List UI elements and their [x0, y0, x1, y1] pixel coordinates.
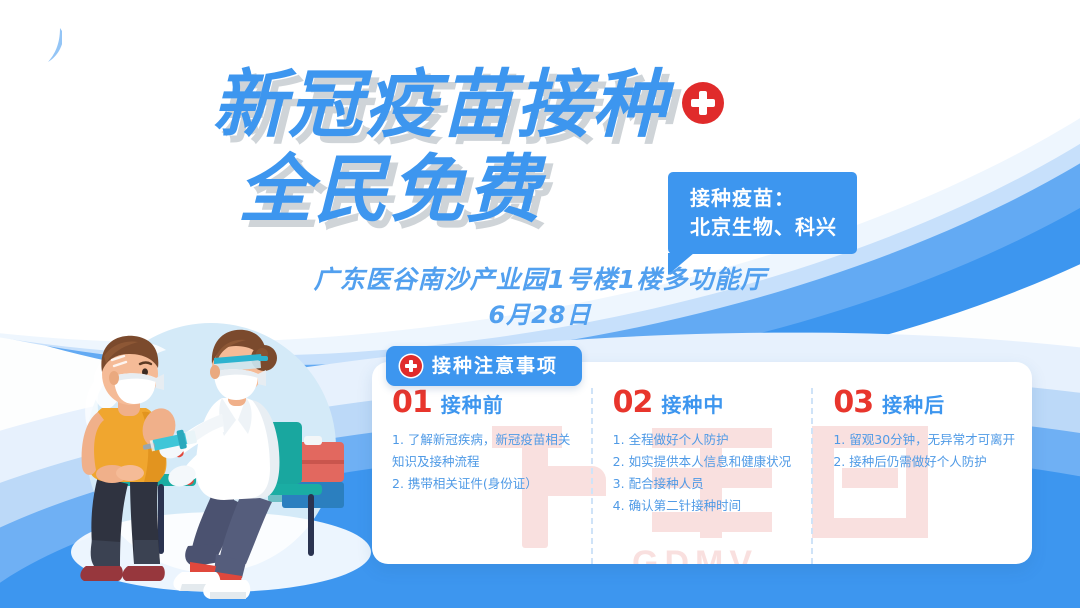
notice-item: 2. 接种后仍需做好个人防护: [833, 451, 1016, 473]
notice-header-pill: 接种注意事项: [386, 346, 582, 386]
vaccination-poster: 广东医谷 —GDMV— 新冠疫苗接种 全民免费 接种疫苗： 北京生物、科兴 广东…: [0, 0, 1080, 608]
notice-item: 2. 携带相关证件(身份证）: [392, 473, 575, 495]
notice-item: 1. 了解新冠疾病，新冠疫苗相关: [392, 429, 575, 451]
notice-item: 3. 配合接种人员: [613, 473, 796, 495]
notice-header-label: 接种注意事项: [432, 357, 558, 376]
notice-columns: 01 接种前 1. 了解新冠疾病，新冠疫苗相关 知识及接种流程 2. 携带相关证…: [372, 362, 1032, 564]
red-cross-icon: [400, 355, 422, 377]
hero-title-line-1: 新冠疫苗接种: [212, 68, 668, 143]
vaccine-badge-line-1: 接种疫苗：: [690, 184, 837, 213]
notice-column-3-head: 03 接种后: [833, 388, 1016, 418]
hero-title-row-1: 新冠疫苗接种: [212, 68, 724, 143]
notice-column-2-title: 接种中: [661, 395, 724, 415]
notice-item: 知识及接种流程: [392, 451, 575, 473]
venue-address: 广东医谷南沙产业园1号楼1楼多功能厅: [0, 262, 1080, 298]
hero-title-line-2: 全民免费: [238, 153, 542, 228]
notice-column-2-number: 02: [613, 388, 653, 418]
notice-column-1-title: 接种前: [441, 395, 504, 415]
notice-card: GDMV 01 接种前 1. 了解新冠疾病，新冠疫苗相关 知识及接种流程 2. …: [372, 362, 1032, 564]
notice-column-3: 03 接种后 1. 留观30分钟，无异常才可离开 2. 接种后仍需做好个人防护: [811, 388, 1032, 564]
notice-column-2: 02 接种中 1. 全程做好个人防护 2. 如实提供本人信息和健康状况 3. 配…: [591, 388, 812, 564]
notice-item: 1. 留观30分钟，无异常才可离开: [833, 429, 1016, 451]
notice-column-1: 01 接种前 1. 了解新冠疾病，新冠疫苗相关 知识及接种流程 2. 携带相关证…: [372, 388, 591, 564]
notice-item: 4. 确认第二针接种时间: [613, 495, 796, 517]
brand-name-cn: 广东医谷: [108, 27, 244, 57]
red-cross-icon: [682, 82, 724, 124]
notice-column-3-number: 03: [833, 388, 873, 418]
notice-column-1-number: 01: [392, 388, 432, 418]
hero-title-row-2: 全民免费: [238, 153, 724, 228]
notice-column-1-head: 01 接种前: [392, 388, 575, 418]
hero-title-block: 新冠疫苗接种 全民免费: [212, 68, 724, 229]
notice-item: 1. 全程做好个人防护: [613, 429, 796, 451]
vaccination-illustration: [46, 316, 376, 608]
vaccine-type-badge: 接种疫苗： 北京生物、科兴: [668, 172, 857, 254]
notice-column-3-title: 接种后: [882, 395, 945, 415]
notice-item: 2. 如实提供本人信息和健康状况: [613, 451, 796, 473]
vaccine-badge-line-2: 北京生物、科兴: [690, 213, 837, 242]
notice-column-2-head: 02 接种中: [613, 388, 796, 418]
medical-cross-logo-icon: [34, 22, 96, 84]
